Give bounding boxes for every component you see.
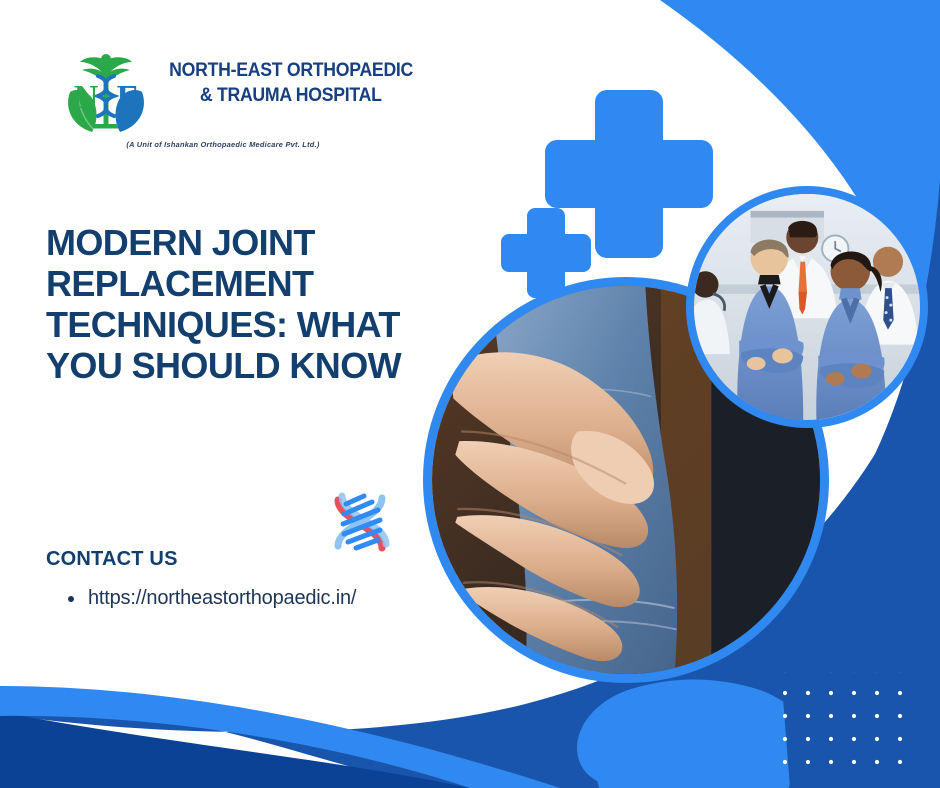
logo-letter-n: N <box>74 79 99 116</box>
medical-cross-large <box>545 90 713 258</box>
logo-caduceus-knob <box>101 54 111 64</box>
contact-heading: CONTACT US <box>46 548 356 571</box>
caduceus-with-leaves-logo: N E <box>58 46 154 142</box>
page-title: MODERN JOINT REPLACEMENT TECHNIQUES: WHA… <box>46 222 466 386</box>
headline-line-2: REPLACEMENT <box>46 263 313 304</box>
logo-caduceus-base <box>94 124 118 129</box>
headline-line-1: MODERN JOINT <box>46 222 315 263</box>
website-link[interactable]: https://northeastorthopaedic.in/ <box>88 587 356 610</box>
promo-poster: N E NORTH-EAST ORTHOPAEDIC & TRAUMA HOSP… <box>0 0 940 788</box>
dot-grid-pattern <box>768 672 908 768</box>
logo-wordmark: NORTH-EAST ORTHOPAEDIC & TRAUMA HOSPITAL <box>160 46 422 108</box>
logo-name-line-1: NORTH-EAST ORTHOPAEDIC <box>169 58 413 83</box>
list-item: https://northeastorthopaedic.in/ <box>46 587 356 610</box>
logo-caduceus-rod <box>104 62 109 128</box>
logo-name-line-2: & TRAUMA HOSPITAL <box>200 83 382 108</box>
headline-line-3: TECHNIQUES: WHAT <box>46 304 400 345</box>
logo-letter-e: E <box>117 79 140 116</box>
hospital-logo: N E NORTH-EAST ORTHOPAEDIC & TRAUMA HOSP… <box>58 46 388 156</box>
headline-line-4: YOU SHOULD KNOW <box>46 345 401 386</box>
contact-section: CONTACT US https://northeastorthopaedic.… <box>46 548 356 610</box>
contact-list: https://northeastorthopaedic.in/ <box>46 587 356 610</box>
bullet-icon <box>68 596 74 602</box>
medical-team-photo <box>686 186 928 428</box>
medical-team-illustration <box>694 194 920 420</box>
logo-subtitle: (A Unit of Ishankan Orthopaedic Medicare… <box>68 140 378 149</box>
